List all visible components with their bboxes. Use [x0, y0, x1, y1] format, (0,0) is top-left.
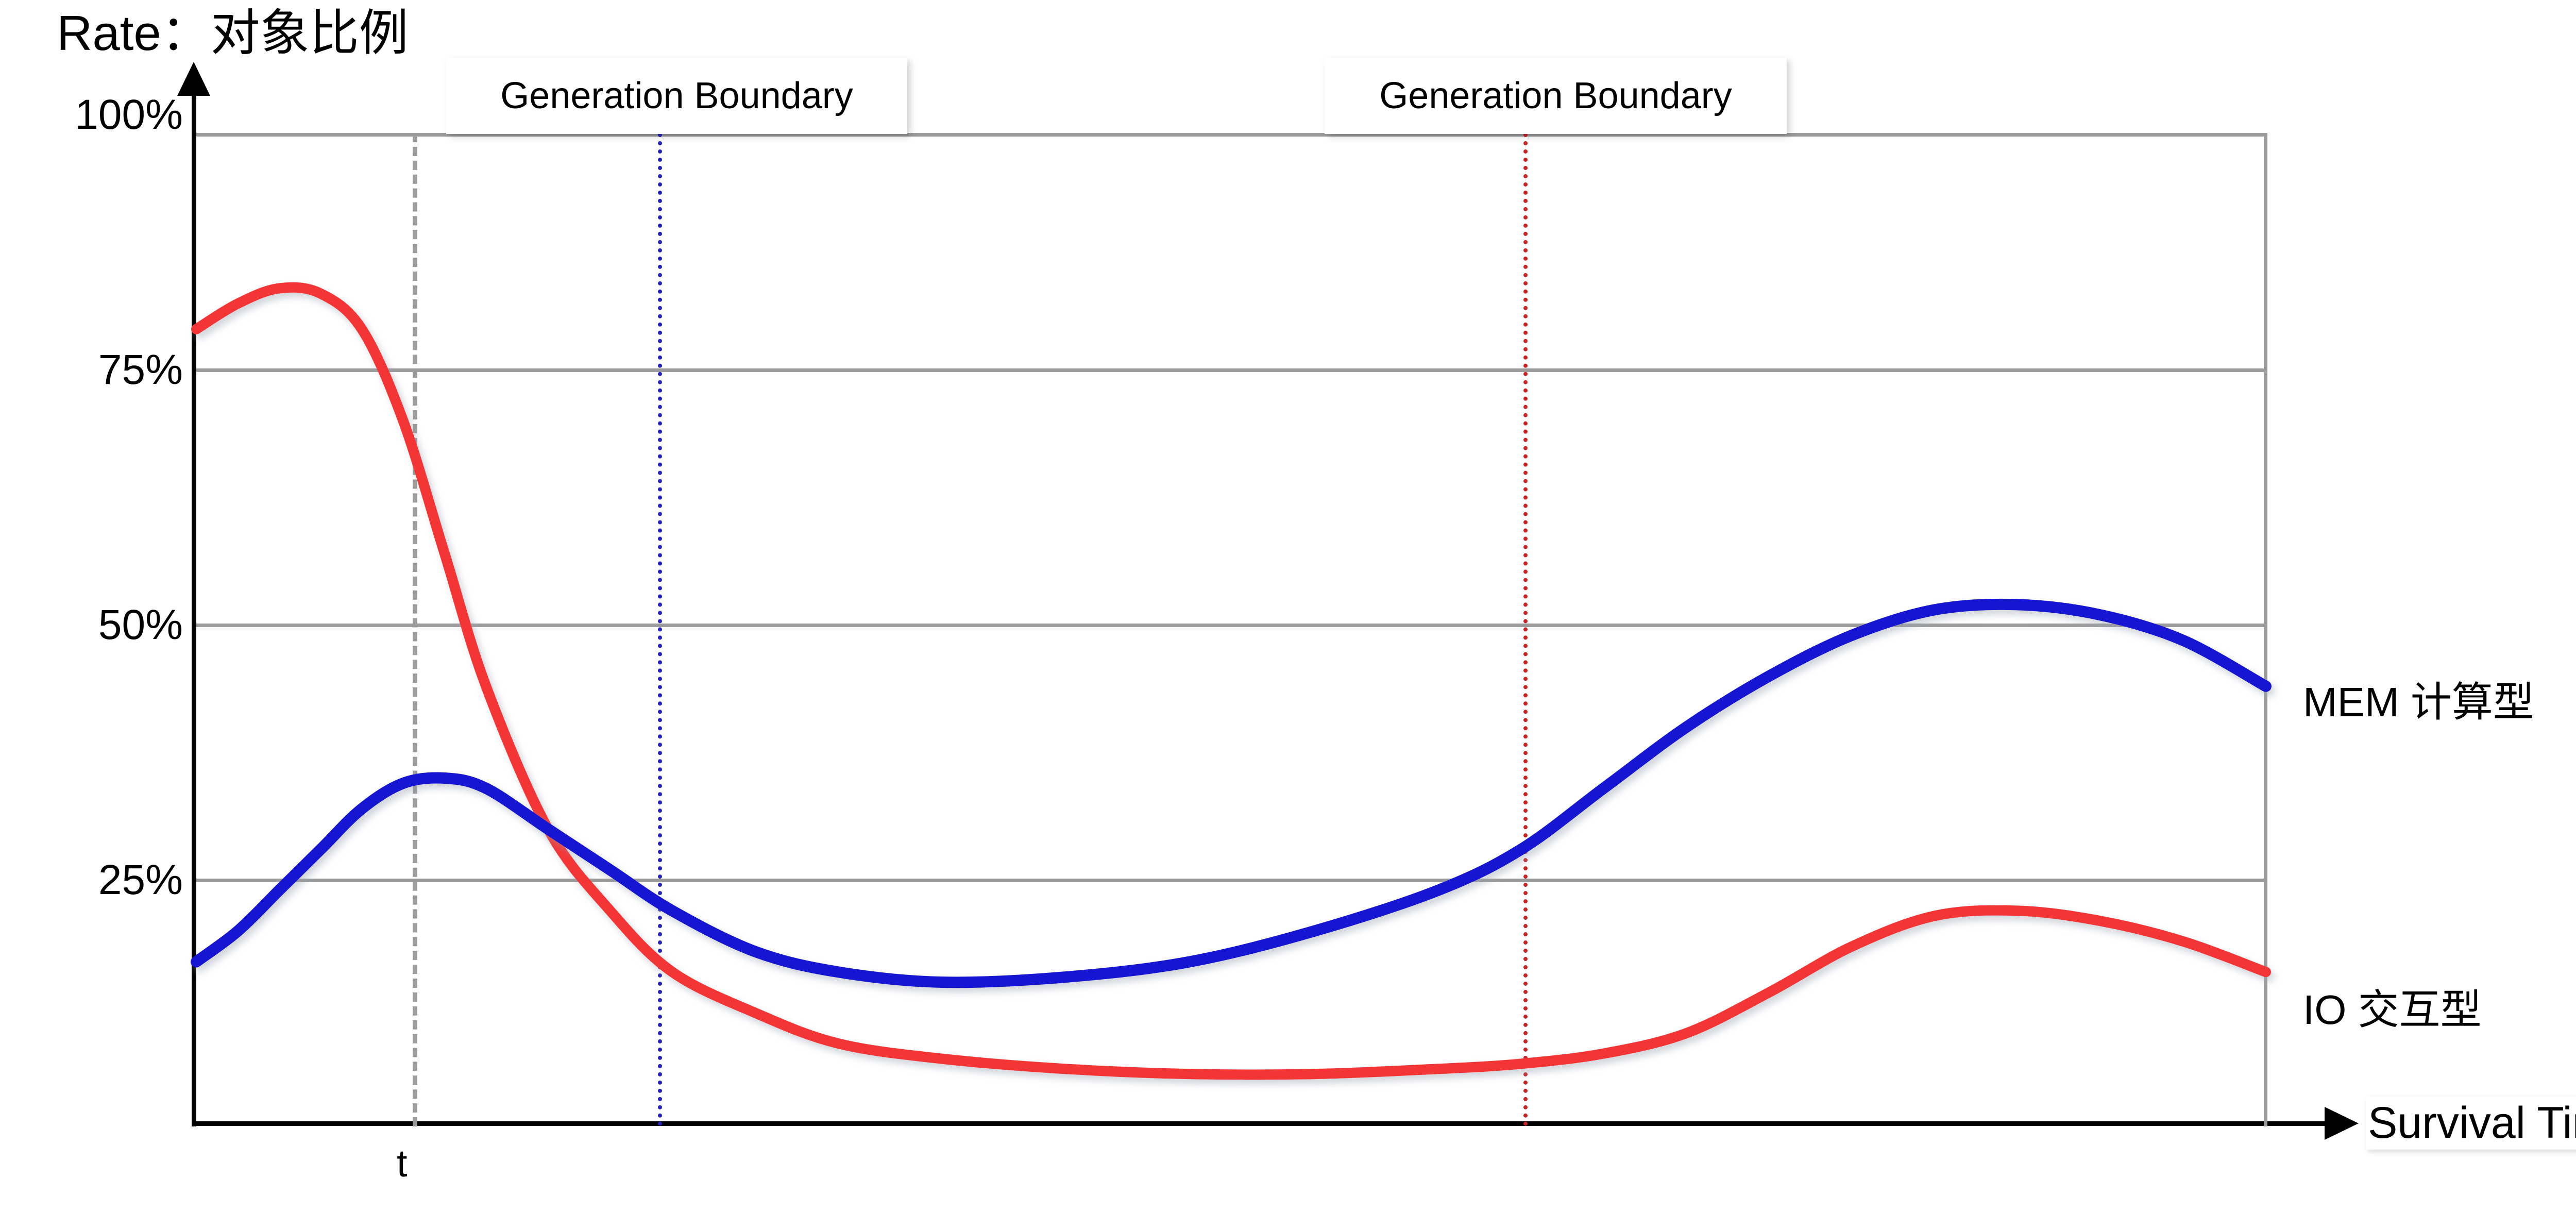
y-tick-75: 75%: [98, 346, 183, 394]
series-curves: [0, 0, 2576, 1212]
gridline-25: [196, 879, 2267, 882]
gridline-50: [196, 624, 2267, 627]
generation-boundary-line-2: [1523, 133, 1528, 1126]
y-axis-arrow-icon: [177, 62, 210, 96]
y-axis-tick-labels: 100% 75% 50% 25%: [0, 0, 183, 1212]
x-axis-caption-prefix: Survival Time: [2366, 1097, 2576, 1150]
x-axis-arrow-icon: [2325, 1107, 2359, 1140]
gridline-75: [196, 368, 2267, 372]
curve-mem: [196, 604, 2266, 982]
x-axis-line: [192, 1121, 2330, 1126]
series-label-mem: MEM 计算型: [2303, 669, 2534, 729]
series-label-io: IO 交互型: [2303, 977, 2482, 1036]
curve-io: [196, 288, 2266, 1075]
y-tick-25: 25%: [98, 856, 183, 904]
generation-boundary-line-1: [658, 133, 662, 1126]
plot-right-border: [2264, 133, 2267, 1126]
t-marker-line: [413, 133, 417, 1126]
generation-boundary-label-1: Generation Boundary: [446, 58, 907, 134]
generation-boundary-label-2: Generation Boundary: [1325, 58, 1787, 134]
y-tick-100: 100%: [75, 91, 183, 139]
chart-canvas: Rate：对象比例 100% 75% 50% 25% t Generation …: [0, 0, 2576, 1212]
y-tick-50: 50%: [98, 601, 183, 649]
t-marker-label: t: [397, 1141, 408, 1185]
x-axis-caption: Survival Time：对象存活时间: [2366, 1086, 2576, 1151]
y-axis-line: [192, 87, 196, 1126]
